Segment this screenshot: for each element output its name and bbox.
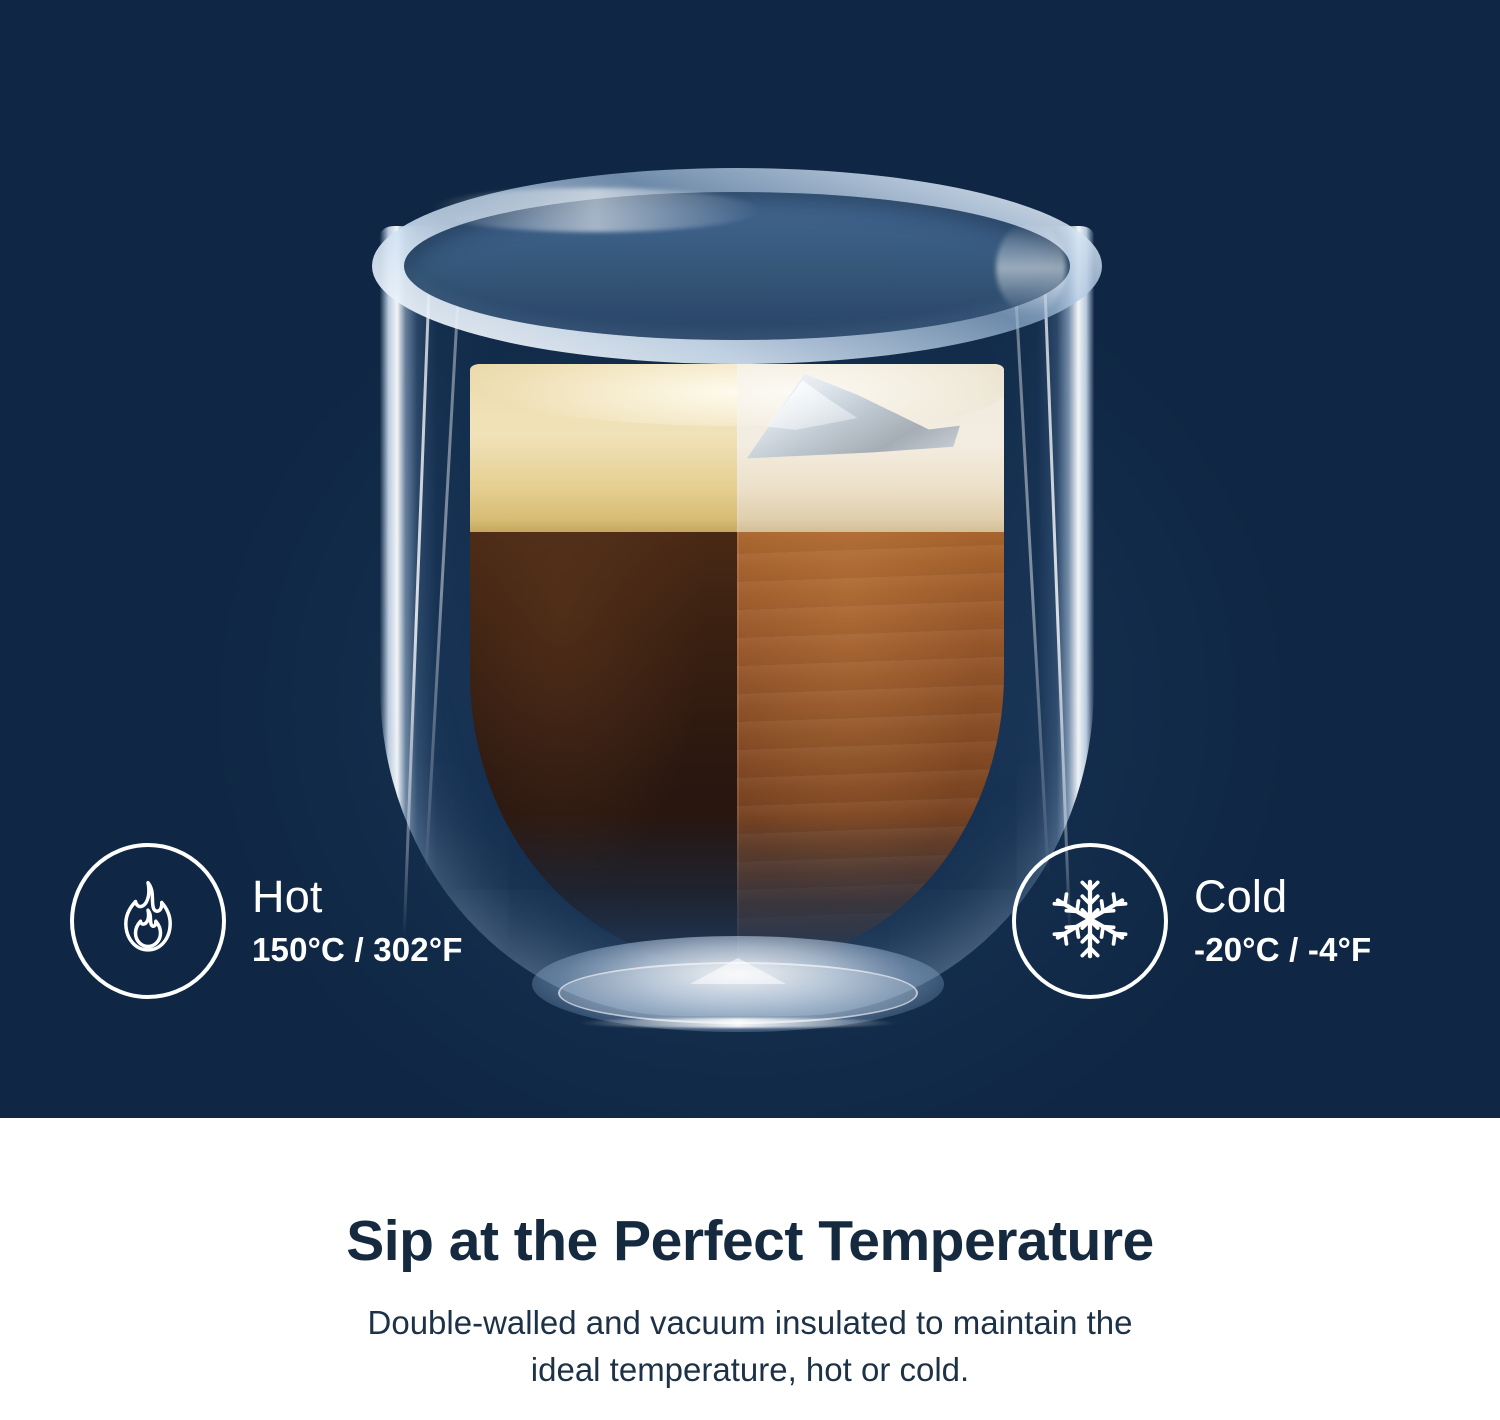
glass-base-highlight bbox=[578, 1018, 898, 1028]
page-subtitle: Double-walled and vacuum insulated to ma… bbox=[0, 1300, 1500, 1394]
rim-gloss-highlight-right bbox=[996, 222, 1066, 314]
badge-cold-title: Cold bbox=[1194, 873, 1371, 920]
subtitle-line-2: ideal temperature, hot or cold. bbox=[0, 1347, 1500, 1394]
flame-icon bbox=[105, 876, 191, 967]
badge-hot-circle bbox=[70, 843, 226, 999]
snowflake-icon bbox=[1046, 875, 1134, 968]
glass-cavity bbox=[470, 364, 1004, 964]
product-glass-image bbox=[372, 168, 1102, 1058]
badge-hot-value: 150°C / 302°F bbox=[252, 930, 463, 970]
copy-panel: Sip at the Perfect Temperature Double-wa… bbox=[0, 1118, 1500, 1420]
page-title: Sip at the Perfect Temperature bbox=[0, 1208, 1500, 1274]
badge-cold: Cold -20°C / -4°F bbox=[1012, 843, 1371, 999]
hero-panel: Hot 150°C / 302°F bbox=[0, 0, 1500, 1118]
beverage bbox=[470, 364, 1004, 964]
rim-gloss-highlight bbox=[430, 188, 760, 232]
badge-hot: Hot 150°C / 302°F bbox=[70, 843, 463, 999]
badge-hot-title: Hot bbox=[252, 873, 463, 920]
badge-cold-text: Cold -20°C / -4°F bbox=[1194, 873, 1371, 970]
badge-cold-value: -20°C / -4°F bbox=[1194, 930, 1371, 970]
product-feature-banner: Hot 150°C / 302°F bbox=[0, 0, 1500, 1420]
subtitle-line-1: Double-walled and vacuum insulated to ma… bbox=[0, 1300, 1500, 1347]
badge-hot-text: Hot 150°C / 302°F bbox=[252, 873, 463, 970]
badge-cold-circle bbox=[1012, 843, 1168, 999]
